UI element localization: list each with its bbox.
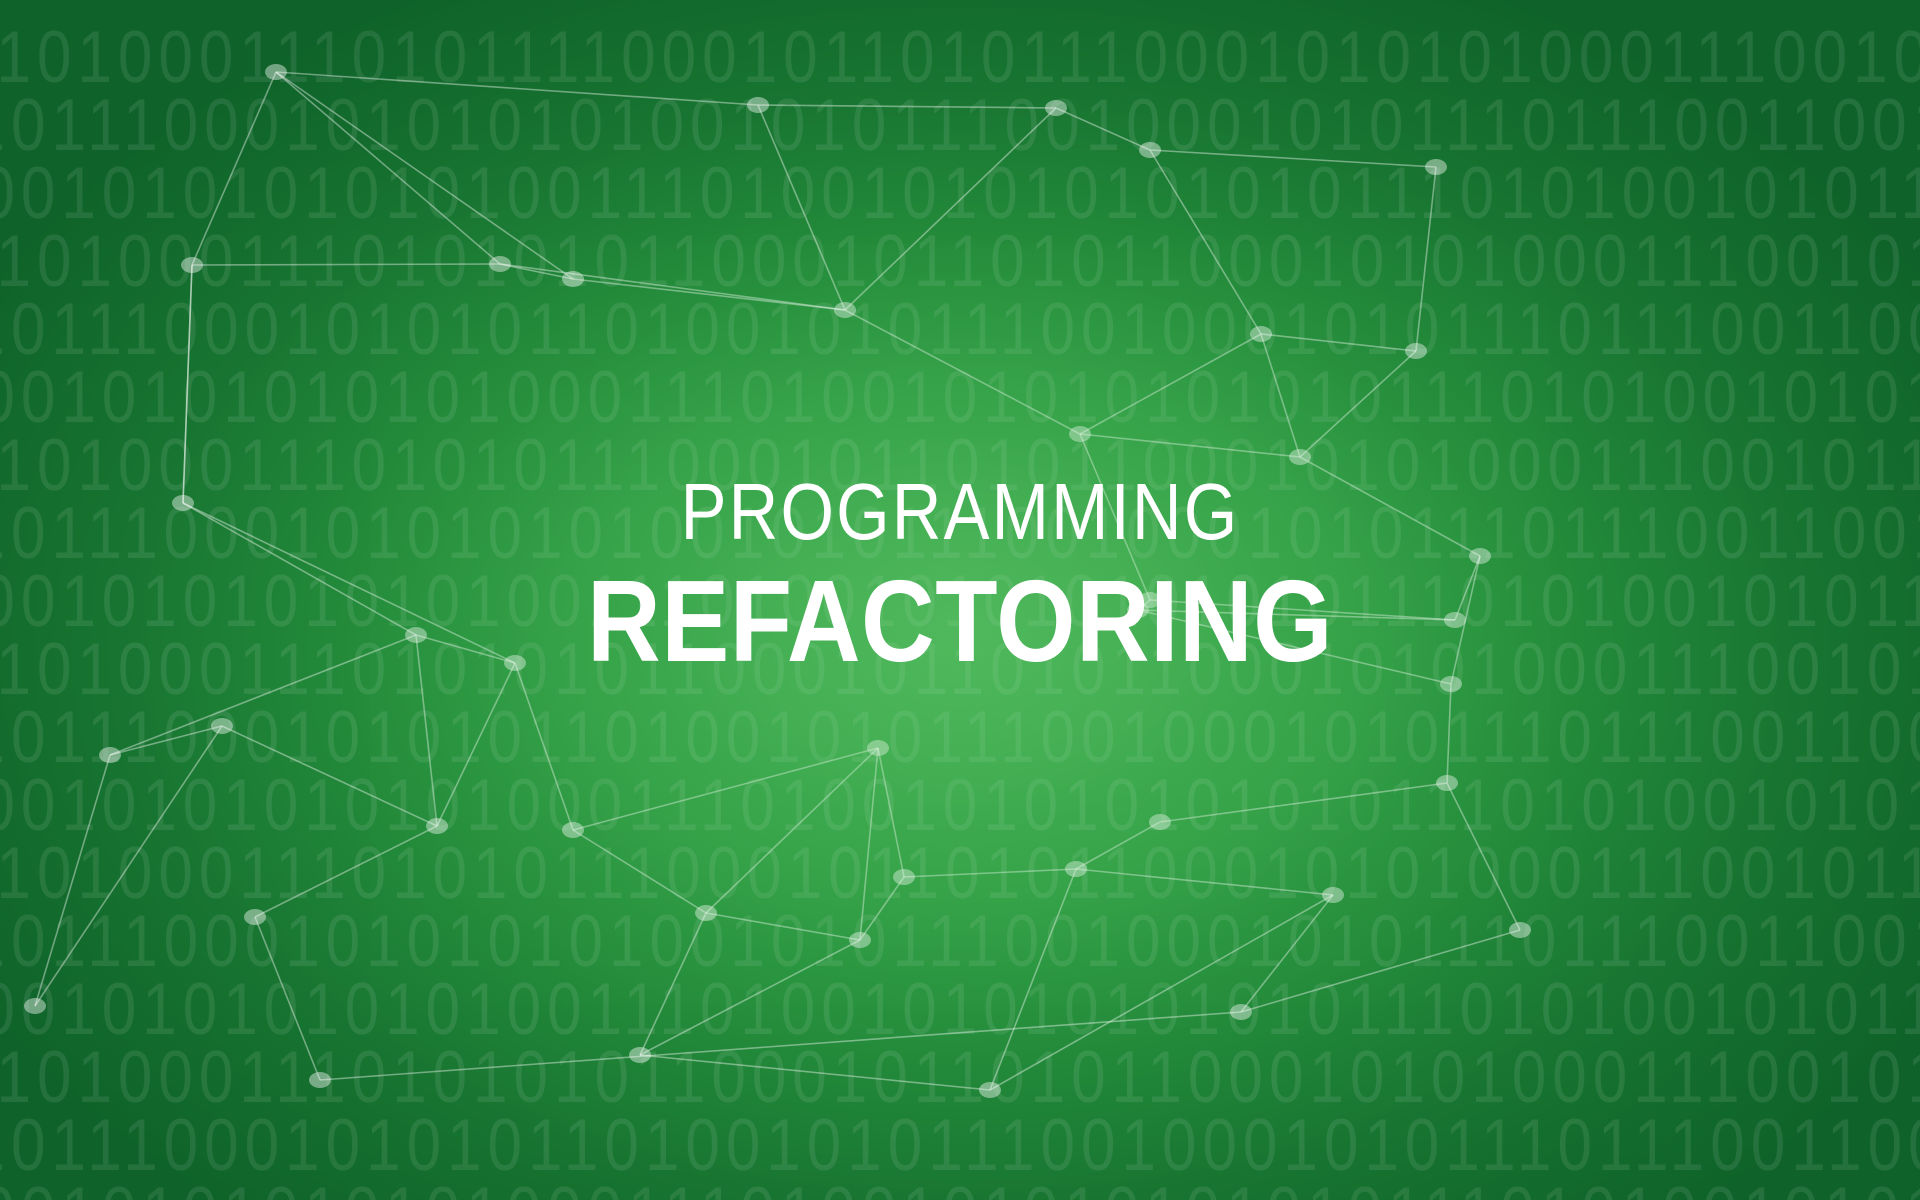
banner-title: REFACTORING bbox=[115, 562, 1805, 680]
title-block: PROGRAMMING REFACTORING bbox=[0, 470, 1920, 680]
banner-canvas: 0101000111010111100010110101110001010101… bbox=[0, 0, 1920, 1200]
banner-subtitle: PROGRAMMING bbox=[134, 470, 1785, 554]
